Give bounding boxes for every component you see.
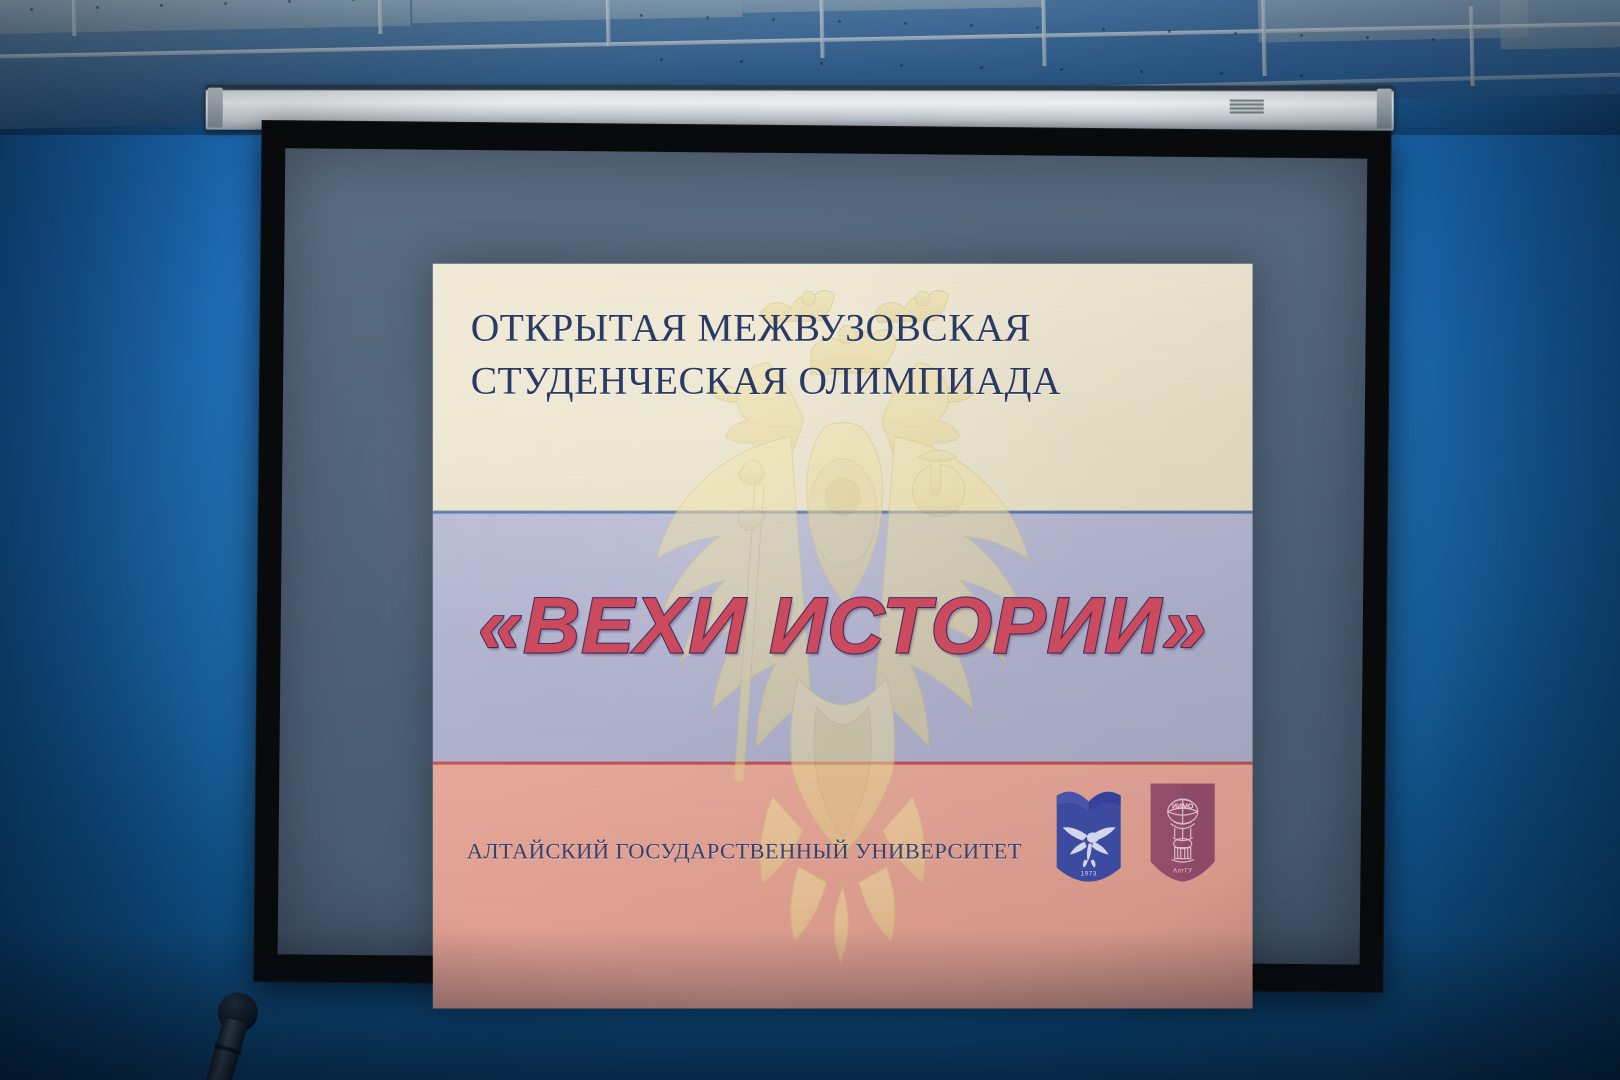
- headline-line-2: СТУДЕНЧЕСКАЯ ОЛИМПИАДА: [471, 355, 1171, 408]
- slide-rule-blue: [433, 511, 1253, 514]
- roller-endcap-left: [208, 88, 223, 128]
- asu-book-bird-emblem: 1973: [1055, 782, 1123, 884]
- headline-line-1: ОТКРЫТАЯ МЕЖВУЗОВСКАЯ: [471, 306, 1031, 350]
- projection-screen: ОТКРЫТАЯ МЕЖВУЗОВСКАЯ СТУДЕНЧЕСКАЯ ОЛИМП…: [253, 80, 1392, 1001]
- slide-rule-red: [433, 762, 1253, 765]
- screen-surface: ОТКРЫТАЯ МЕЖВУЗОВСКАЯ СТУДЕНЧЕСКАЯ ОЛИМП…: [278, 148, 1368, 964]
- presentation-slide: ОТКРЫТАЯ МЕЖВУЗОВСКАЯ СТУДЕНЧЕСКАЯ ОЛИМП…: [433, 264, 1253, 1009]
- roller-endcap-right: [1377, 89, 1392, 129]
- slide-footer-university: АЛТАЙСКИЙ ГОСУДАРСТВЕННЫЙ УНИВЕРСИТЕТ: [467, 839, 1027, 865]
- slide-main-title: «ВЕХИ ИСТОРИИ»: [433, 586, 1253, 665]
- roller-label-sticker: [1230, 100, 1264, 114]
- photo-scene: ОТКРЫТАЯ МЕЖВУЗОВСКАЯ СТУДЕНЧЕСКАЯ ОЛИМП…: [0, 0, 1620, 1080]
- slide-logo-group: 1973: [1055, 782, 1217, 884]
- altgu-crest-emblem: ИИМО АлтГУ: [1149, 782, 1217, 884]
- lower-wall-shadow: [0, 930, 1620, 1080]
- altgu-emblem-initials: ИИМО: [1172, 804, 1194, 811]
- wall-right-shadow: [1360, 0, 1620, 1080]
- altgu-emblem-abbr: АлтГУ: [1173, 869, 1192, 875]
- screen-frame: ОТКРЫТАЯ МЕЖВУЗОВСКАЯ СТУДЕНЧЕСКАЯ ОЛИМП…: [253, 120, 1391, 993]
- slide-headline: ОТКРЫТАЯ МЕЖВУЗОВСКАЯ СТУДЕНЧЕСКАЯ ОЛИМП…: [471, 302, 1171, 408]
- asu-emblem-year: 1973: [1080, 871, 1096, 878]
- wall-left-shadow: [0, 0, 250, 1080]
